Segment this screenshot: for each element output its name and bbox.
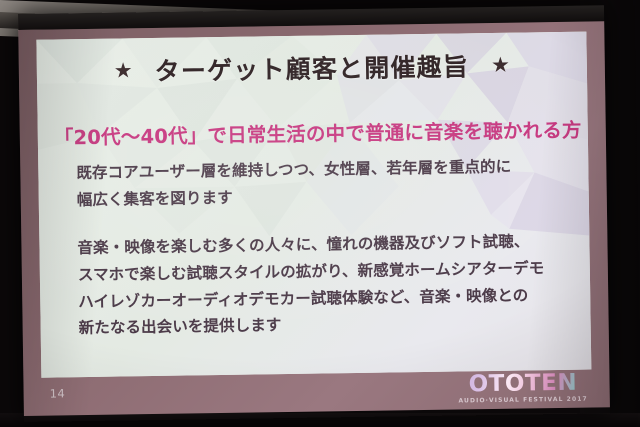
slide-body: 「20代〜40代」で日常生活の中で普通に音楽を聴かれる方 既存コアユーザー層を維… (54, 114, 577, 343)
star-right-icon: ★ (491, 54, 510, 75)
headline-text: 「20代〜40代」で日常生活の中で普通に音楽を聴かれる方 (54, 114, 574, 151)
page-title: ターゲット顧客と開催趣旨 (154, 47, 469, 88)
slide-title-band: ★ ターゲット顧客と開催趣旨 ★ (36, 32, 587, 104)
paragraph-two: 音楽・映像を楽しむ多くの人々に、憧れの機器及びソフト試聴、 スマホで楽しむ試聴ス… (77, 228, 577, 342)
projected-slide-photo: ★ ターゲット顧客と開催趣旨 ★ 「20代〜40代」で日常生活の中で普通に音楽を… (0, 0, 640, 427)
ototen-wordmark: OTOTEN (458, 372, 588, 397)
ototen-logo: OTOTEN AUDIO·VISUAL FESTIVAL 2017 (458, 372, 588, 405)
slide-footer: 14 OTOTEN AUDIO·VISUAL FESTIVAL 2017 (23, 369, 609, 416)
slide-content-page: ★ ターゲット顧客と開催趣旨 ★ 「20代〜40代」で日常生活の中で普通に音楽を… (36, 32, 591, 378)
projection-screen: ★ ターゲット顧客と開催趣旨 ★ 「20代〜40代」で日常生活の中で普通に音楽を… (18, 5, 610, 422)
star-left-icon: ★ (114, 60, 133, 81)
paragraph-one: 既存コアユーザー層を維持しつつ、女性層、若年層を重点的に 幅広く集客を図ります (76, 153, 575, 214)
ototen-tagline: AUDIO·VISUAL FESTIVAL 2017 (458, 397, 587, 405)
slide-page-number: 14 (50, 386, 66, 400)
slide-frame: ★ ターゲット顧客と開催趣旨 ★ 「20代〜40代」で日常生活の中で普通に音楽を… (18, 21, 610, 416)
